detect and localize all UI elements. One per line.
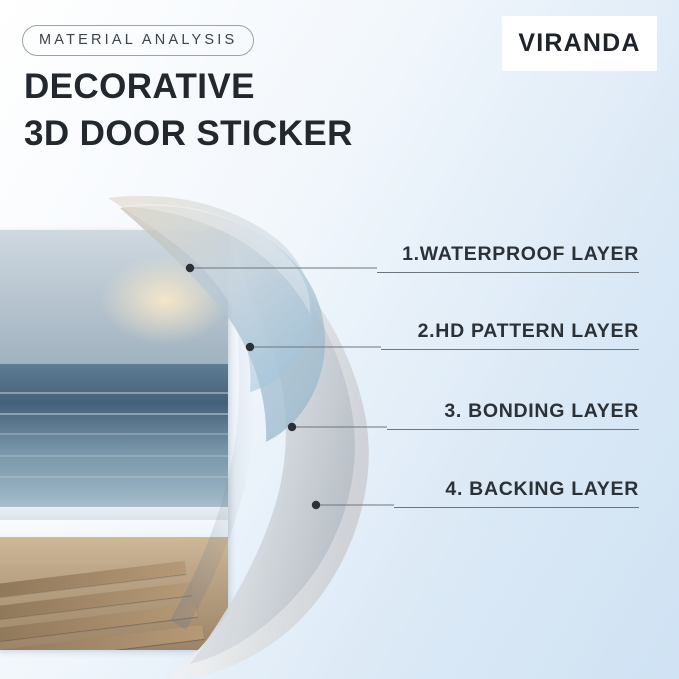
callout-layer-3: 3. BONDING LAYER (387, 400, 639, 430)
callout-rule-4 (394, 507, 639, 508)
callout-label-3: 3. BONDING LAYER (444, 400, 639, 422)
sticker-artwork: beach with sea, sand and wooden boardwal… (0, 190, 430, 679)
brand-logo-box: VIRANDA (502, 16, 657, 71)
page-title: DECORATIVE 3D DOOR STICKER (24, 68, 353, 153)
callout-label-2: 2.HD PATTERN LAYER (418, 320, 639, 342)
callout-label-4: 4. BACKING LAYER (445, 478, 639, 500)
callout-label-1: 1.WATERPROOF LAYER (402, 243, 639, 265)
callout-rule-2 (381, 349, 639, 350)
callout-layer-1: 1.WATERPROOF LAYER (377, 243, 639, 273)
callout-rule-3 (387, 429, 639, 430)
brand-name: VIRANDA (518, 29, 640, 58)
peel-curl-svg (0, 190, 430, 679)
title-line-1: DECORATIVE (24, 68, 353, 106)
title-line-2: 3D DOOR STICKER (24, 115, 353, 153)
callout-rule-1 (377, 272, 639, 273)
callout-layer-4: 4. BACKING LAYER (394, 478, 639, 508)
callout-layer-2: 2.HD PATTERN LAYER (381, 320, 639, 350)
poster-canvas: beach with sea, sand and wooden boardwal… (0, 0, 679, 679)
eyebrow-badge: MATERIAL ANALYSIS (22, 25, 254, 56)
